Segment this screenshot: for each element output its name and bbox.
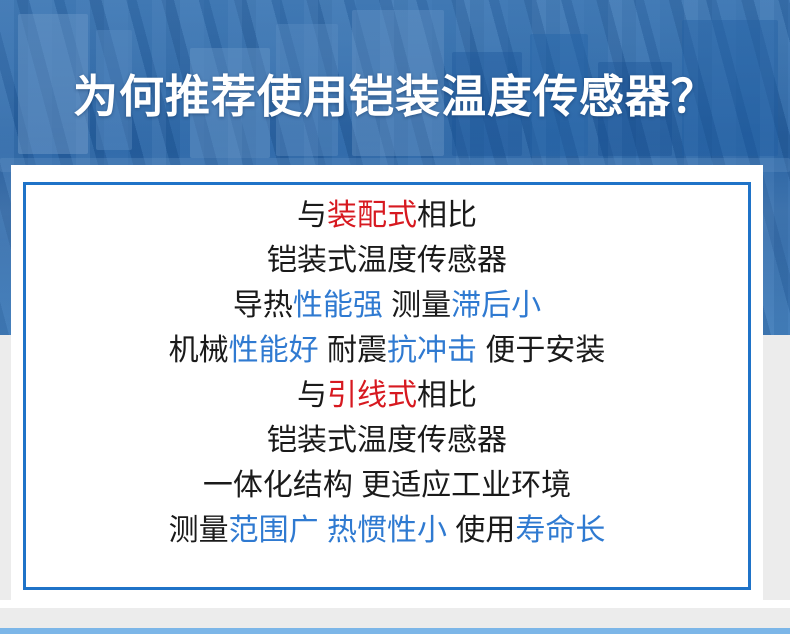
feature-line: 铠装式温度传感器 [11,238,763,283]
feature-line: 导热性能强 测量滞后小 [11,283,763,328]
feature-line: 铠装式温度传感器 [11,418,763,463]
feature-line: 一体化结构 更适应工业环境 [11,463,763,508]
feature-text-segment-blue: 范围广 [229,514,319,547]
feature-text-segment-black: 导热 [233,289,293,322]
feature-text-segment-black: 相比 [417,379,477,412]
feature-text-segment-black: 相比 [417,199,477,232]
feature-text-segment-blue: 寿命长 [515,514,605,547]
page-root: 为何推荐使用铠装温度传感器？ 与装配式相比铠装式温度传感器导热性能强 测量滞后小… [0,0,790,634]
footer-blue-strip [0,628,790,634]
feature-text-segment-black: 铠装式温度传感器 [267,244,507,277]
page-gutter-left [0,335,11,608]
card-bottom-white-band [0,600,790,608]
feature-line: 机械性能好 耐震抗冲击 便于安装 [11,328,763,373]
feature-text-segment-black: 测量 [383,289,451,322]
feature-text-segment-black: 机械 [169,334,229,367]
feature-text-segment-blue: 热惯性小 [319,514,447,547]
feature-text-segment-black: 使用 [447,514,515,547]
page-gutter-right [763,335,790,608]
feature-text-segment-black: 铠装式温度传感器 [267,424,507,457]
feature-text-segment-black: 与 [297,379,327,412]
feature-text-segment-red: 引线式 [327,379,417,412]
feature-text-segment-black: 测量 [169,514,229,547]
feature-text-segment-black: 一体化结构 更适应工业环境 [203,469,571,502]
content-card: 与装配式相比铠装式温度传感器导热性能强 测量滞后小机械性能好 耐震抗冲击 便于安… [11,165,763,608]
feature-text-segment-black: 与 [297,199,327,232]
feature-text-segment-blue: 滞后小 [451,289,541,322]
feature-text-block: 与装配式相比铠装式温度传感器导热性能强 测量滞后小机械性能好 耐震抗冲击 便于安… [11,193,763,553]
footer-gray-strip [0,608,790,628]
feature-line: 测量范围广 热惯性小 使用寿命长 [11,508,763,553]
feature-text-segment-blue: 性能强 [293,289,383,322]
feature-text-segment-black: 耐震 [319,334,387,367]
feature-line: 与引线式相比 [11,373,763,418]
feature-text-segment-blue: 性能好 [229,334,319,367]
feature-line: 与装配式相比 [11,193,763,238]
feature-text-segment-red: 装配式 [327,199,417,232]
page-title: 为何推荐使用铠装温度传感器？ [0,68,790,126]
feature-text-segment-black: 便于安装 [477,334,605,367]
feature-text-segment-blue: 抗冲击 [387,334,477,367]
